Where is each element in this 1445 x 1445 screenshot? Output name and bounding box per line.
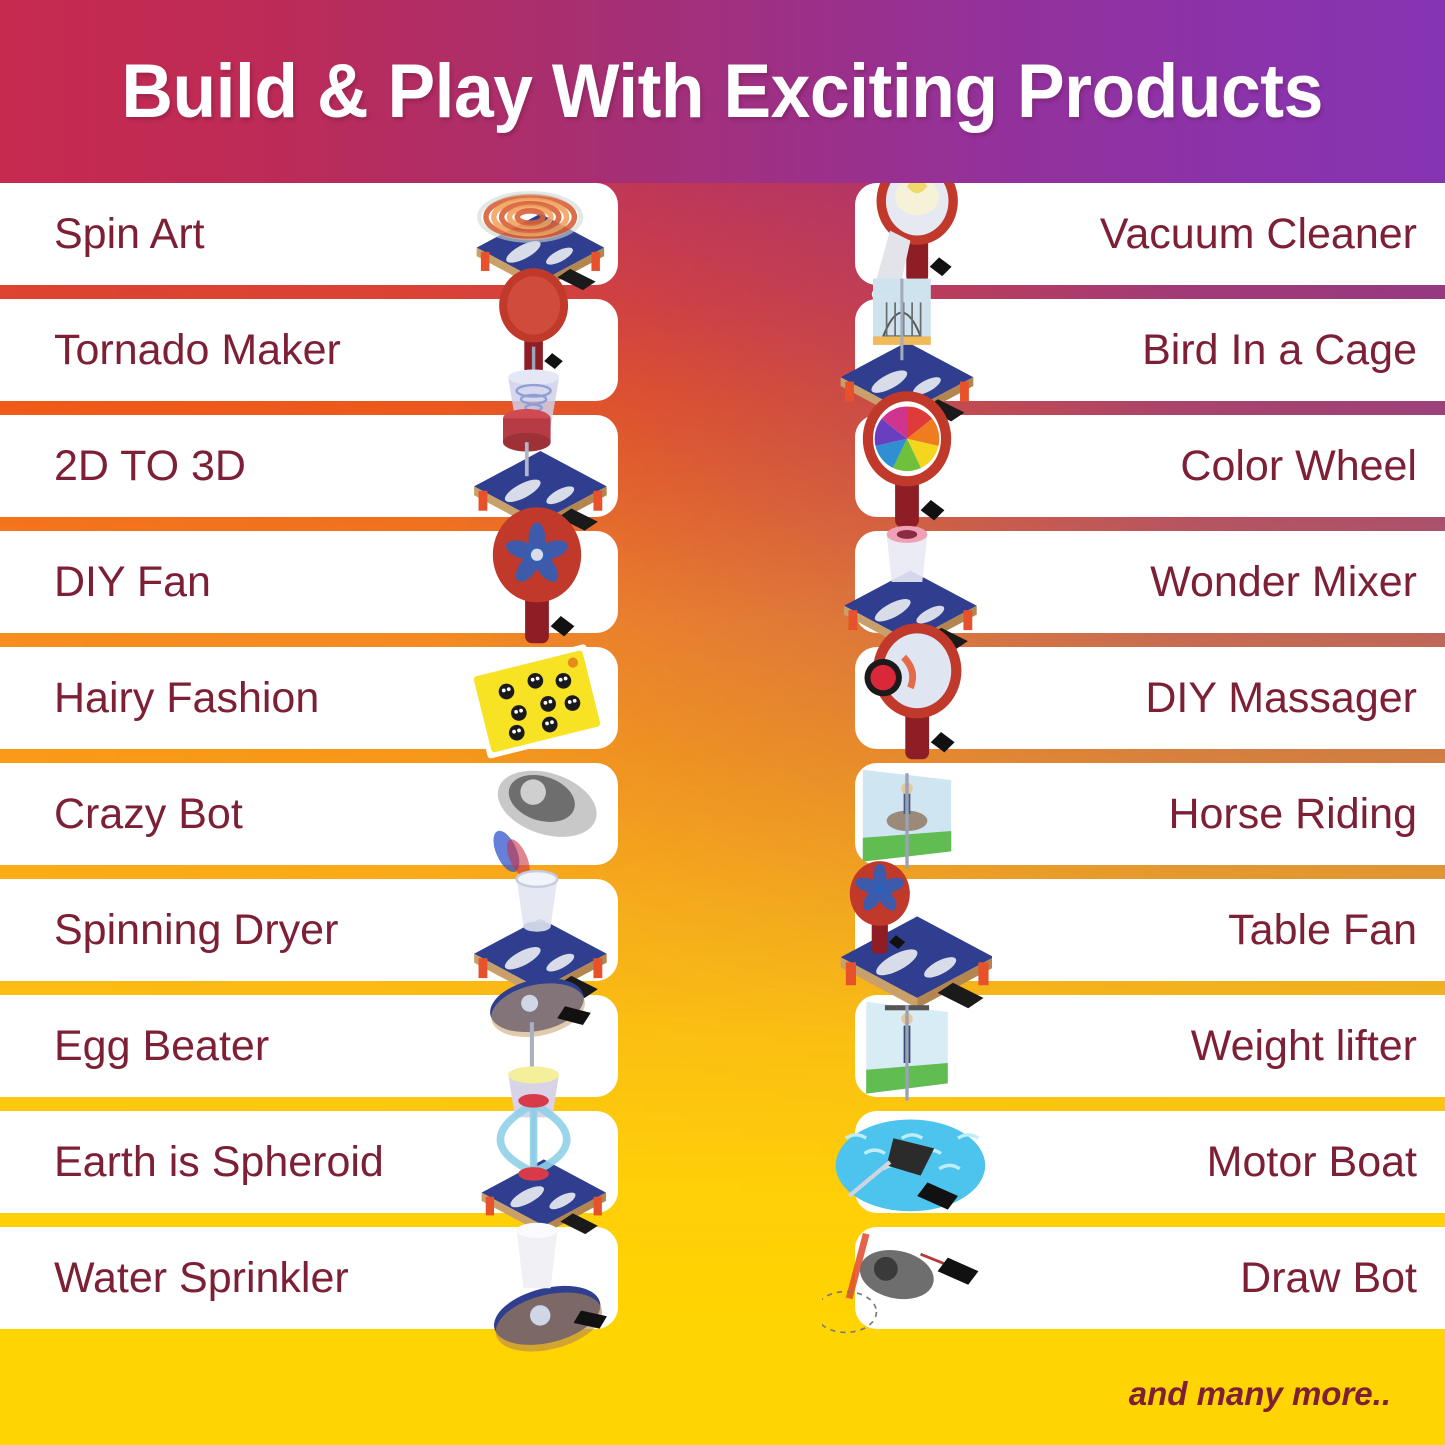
product-label: Weight lifter — [1191, 1025, 1417, 1068]
product-label: Spin Art — [54, 213, 205, 256]
product-card[interactable]: Horse Riding — [855, 763, 1445, 865]
and-many-more-text: and many more.. — [1129, 1375, 1391, 1413]
product-card[interactable]: Egg Beater — [0, 995, 618, 1097]
product-card[interactable]: Tornado Maker — [0, 299, 618, 401]
product-row: Spin ArtVacuum Cleaner — [0, 183, 1445, 285]
product-label: Water Sprinkler — [54, 1257, 349, 1300]
product-card[interactable]: Color Wheel — [855, 415, 1445, 517]
page-title: Build & Play With Exciting Products — [122, 48, 1323, 135]
product-label: Bird In a Cage — [1142, 329, 1417, 372]
product-row: DIY FanWonder Mixer — [0, 531, 1445, 633]
product-card[interactable]: Bird In a Cage — [855, 299, 1445, 401]
product-label: Draw Bot — [1240, 1257, 1417, 1300]
product-card[interactable]: DIY Massager — [855, 647, 1445, 749]
product-card[interactable]: 2D TO 3D — [0, 415, 618, 517]
product-row: Hairy FashionDIY Massager — [0, 647, 1445, 749]
product-row: Spinning DryerTable Fan — [0, 879, 1445, 981]
product-grid: Spin ArtVacuum CleanerTornado MakerBird … — [0, 183, 1445, 1343]
product-card[interactable]: Wonder Mixer — [855, 531, 1445, 633]
product-card[interactable]: Spin Art — [0, 183, 618, 285]
product-label: DIY Massager — [1145, 677, 1417, 720]
footer: and many more.. — [0, 1343, 1445, 1445]
product-row: Egg BeaterWeight lifter — [0, 995, 1445, 1097]
product-showcase-poster: Build & Play With Exciting Products Spin… — [0, 0, 1445, 1445]
product-card[interactable]: DIY Fan — [0, 531, 618, 633]
product-card[interactable]: Hairy Fashion — [0, 647, 618, 749]
product-label: Vacuum Cleaner — [1100, 213, 1417, 256]
product-label: Wonder Mixer — [1150, 561, 1417, 604]
product-label: DIY Fan — [54, 561, 211, 604]
product-card[interactable]: Spinning Dryer — [0, 879, 618, 981]
product-card[interactable]: Vacuum Cleaner — [855, 183, 1445, 285]
product-label: 2D TO 3D — [54, 445, 246, 488]
product-label: Earth is Spheroid — [54, 1141, 384, 1184]
product-label: Spinning Dryer — [54, 909, 338, 952]
product-label: Motor Boat — [1207, 1141, 1417, 1184]
product-card[interactable]: Weight lifter — [855, 995, 1445, 1097]
product-card[interactable]: Table Fan — [855, 879, 1445, 981]
poster-header: Build & Play With Exciting Products — [0, 0, 1445, 183]
product-label: Hairy Fashion — [54, 677, 319, 720]
product-card[interactable]: Crazy Bot — [0, 763, 618, 865]
product-label: Table Fan — [1228, 909, 1417, 952]
product-label: Tornado Maker — [54, 329, 341, 372]
product-row: 2D TO 3DColor Wheel — [0, 415, 1445, 517]
product-card[interactable]: Draw Bot — [855, 1227, 1445, 1329]
product-card[interactable]: Motor Boat — [855, 1111, 1445, 1213]
product-row: Crazy BotHorse Riding — [0, 763, 1445, 865]
product-row: Tornado MakerBird In a Cage — [0, 299, 1445, 401]
product-label: Horse Riding — [1168, 793, 1417, 836]
product-card[interactable]: Water Sprinkler — [0, 1227, 618, 1329]
product-card[interactable]: Earth is Spheroid — [0, 1111, 618, 1213]
product-label: Color Wheel — [1180, 445, 1417, 488]
product-label: Crazy Bot — [54, 793, 243, 836]
product-row: Earth is SpheroidMotor Boat — [0, 1111, 1445, 1213]
product-row: Water SprinklerDraw Bot — [0, 1227, 1445, 1329]
product-label: Egg Beater — [54, 1025, 269, 1068]
